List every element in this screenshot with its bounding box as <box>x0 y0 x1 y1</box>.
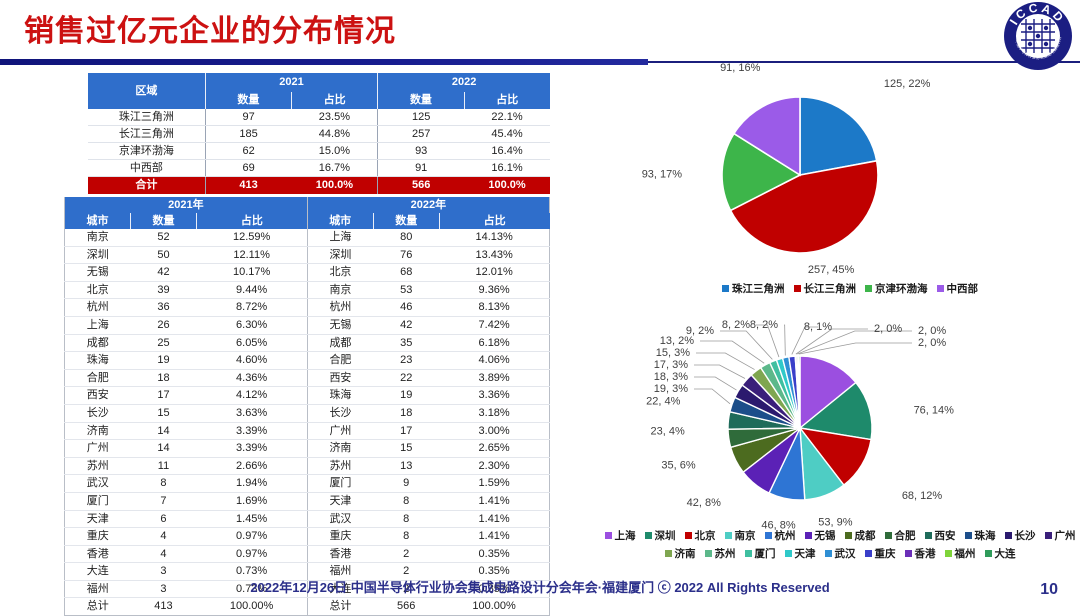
table-row: 成都256.05%成都356.18% <box>65 334 550 352</box>
city-2021-share: 3.39% <box>197 440 308 458</box>
city-2021-name: 天津 <box>65 510 131 528</box>
city-2021-name: 西安 <box>65 387 131 405</box>
legend-label: 厦门 <box>755 546 776 561</box>
city-2021-share: 12.11% <box>197 246 308 264</box>
legend-label: 西安 <box>935 528 956 543</box>
pie-data-label: 2, 0% <box>918 325 946 337</box>
city-2021-share: 12.59% <box>197 229 308 246</box>
table-row: 天津61.45%武汉81.41% <box>65 510 550 528</box>
city-2022-share: 3.00% <box>439 422 549 440</box>
slide-root: 销售过亿元企业的分布情况 <box>0 0 1080 607</box>
region-2022-share: 45.4% <box>464 126 550 143</box>
legend-swatch-icon <box>725 532 732 539</box>
region-2022-share: 22.1% <box>464 109 550 126</box>
table-row: 苏州112.66%苏州132.30% <box>65 457 550 475</box>
city-2022-share: 3.36% <box>439 387 549 405</box>
total-label: 合计 <box>88 177 205 195</box>
table-row: 珠江三角洲9723.5%12522.1% <box>88 109 550 126</box>
region-2022-count: 257 <box>378 126 464 143</box>
legend-label: 深圳 <box>655 528 676 543</box>
city-2021-count-header: 数量 <box>130 213 196 229</box>
legend-label: 广州 <box>1055 528 1076 543</box>
legend-item: 成都 <box>845 528 876 543</box>
pie-data-label: 15, 3% <box>656 347 690 359</box>
city-2021-name: 上海 <box>65 316 131 334</box>
pie-data-label: 2, 0% <box>918 337 946 349</box>
city-2022-count: 35 <box>373 334 439 352</box>
city-2021-name: 北京 <box>65 281 131 299</box>
legend-swatch-icon <box>685 532 692 539</box>
legend-swatch-icon <box>1045 532 1052 539</box>
city-2021-share: 0.97% <box>197 545 308 563</box>
city-2021-share: 4.12% <box>197 387 308 405</box>
city-2022-name: 成都 <box>307 334 373 352</box>
city-2021-name: 杭州 <box>65 299 131 317</box>
legend-label: 合肥 <box>895 528 916 543</box>
city-2021-share: 1.94% <box>197 475 308 493</box>
city-2021-count: 15 <box>130 404 196 422</box>
city-2022-count: 76 <box>373 246 439 264</box>
region-2021-share: 23.5% <box>291 109 377 126</box>
city-2021-name: 重庆 <box>65 528 131 546</box>
pie-data-label: 17, 3% <box>654 359 688 371</box>
city-2021-share: 1.69% <box>197 492 308 510</box>
city-2022-share: 13.43% <box>439 246 549 264</box>
legend-item: 深圳 <box>645 528 676 543</box>
city-table-head-row-1: 2021年 2022年 <box>65 197 550 213</box>
table-row: 长沙153.63%长沙183.18% <box>65 404 550 422</box>
legend-label: 上海 <box>615 528 636 543</box>
region-2021-count: 185 <box>205 126 291 143</box>
city-table-head-row-2: 城市 数量 占比 城市 数量 占比 <box>65 213 550 229</box>
city-2021-name: 深圳 <box>65 246 131 264</box>
legend-swatch-icon <box>825 550 832 557</box>
legend-label: 福州 <box>955 546 976 561</box>
city-table-head: 2021年 2022年 城市 数量 占比 城市 数量 占比 <box>65 197 550 229</box>
region-pie-slices <box>722 97 878 253</box>
legend-item: 西安 <box>925 528 956 543</box>
leader-line <box>694 377 736 390</box>
city-2022-share: 7.42% <box>439 316 549 334</box>
leader-line <box>700 341 764 363</box>
city-2022-count: 8 <box>373 528 439 546</box>
city-2021-count: 50 <box>130 246 196 264</box>
table-row: 京津环渤海6215.0%9316.4% <box>88 143 550 160</box>
city-2022-share: 8.13% <box>439 299 549 317</box>
city-2021-name: 成都 <box>65 334 131 352</box>
city-2022-name: 南京 <box>307 281 373 299</box>
city-2021-count: 36 <box>130 299 196 317</box>
legend-swatch-icon <box>985 550 992 557</box>
region-name: 珠江三角洲 <box>88 109 205 126</box>
city-2022-count: 2 <box>373 545 439 563</box>
region-table-head: 区域 2021 2022 数量 占比 数量 占比 <box>88 73 550 109</box>
city-2021-share: 8.72% <box>197 299 308 317</box>
city-distribution-table: 2021年 2022年 城市 数量 占比 城市 数量 占比 南京5212.59%… <box>64 197 550 616</box>
leader-line <box>696 353 755 370</box>
region-2022-share: 16.1% <box>464 160 550 177</box>
legend-label: 杭州 <box>775 528 796 543</box>
leader-line <box>799 343 912 354</box>
table-row: 香港40.97%香港20.35% <box>65 545 550 563</box>
legend-item: 无锡 <box>805 528 836 543</box>
city-2022-count: 22 <box>373 369 439 387</box>
pie-data-label: 91, 16% <box>720 62 761 74</box>
city-2022-share-header: 占比 <box>439 213 549 229</box>
total-2022-count: 566 <box>378 177 464 195</box>
legend-item: 重庆 <box>865 546 896 561</box>
city-2021-name: 香港 <box>65 545 131 563</box>
legend-item: 杭州 <box>765 528 796 543</box>
city-pie-legend: 上海深圳北京南京杭州无锡成都合肥西安珠海长沙广州济南苏州厦门天津武汉重庆香港福州… <box>600 528 1080 561</box>
legend-item: 济南 <box>665 546 696 561</box>
city-2022-share: 3.89% <box>439 369 549 387</box>
legend-item: 厦门 <box>745 546 776 561</box>
region-2021-share: 16.7% <box>291 160 377 177</box>
legend-label: 长江三角洲 <box>804 281 857 296</box>
city-2022-count: 42 <box>373 316 439 334</box>
legend-swatch-icon <box>1005 532 1012 539</box>
city-2022-count: 13 <box>373 457 439 475</box>
legend-item: 南京 <box>725 528 756 543</box>
legend-label: 香港 <box>915 546 936 561</box>
city-2022-name: 济南 <box>307 440 373 458</box>
legend-swatch-icon <box>794 285 801 292</box>
city-2021-name: 合肥 <box>65 369 131 387</box>
city-2022-share: 6.18% <box>439 334 549 352</box>
city-2021-count: 7 <box>130 492 196 510</box>
city-2021-count: 42 <box>130 264 196 282</box>
legend-item: 福州 <box>945 546 976 561</box>
city-2022-share: 0.35% <box>439 545 549 563</box>
city-2022-name: 上海 <box>307 229 373 246</box>
pie-data-label: 42, 8% <box>687 497 721 509</box>
city-2022-name: 杭州 <box>307 299 373 317</box>
pie-data-label: 22, 4% <box>646 395 680 407</box>
pie-data-label: 53, 9% <box>818 516 852 528</box>
pie-data-label: 9, 2% <box>686 325 714 337</box>
legend-swatch-icon <box>945 550 952 557</box>
city-2022-count: 68 <box>373 264 439 282</box>
region-2021-count-header: 数量 <box>205 92 291 109</box>
city-2021-share: 9.44% <box>197 281 308 299</box>
city-2022-name: 西安 <box>307 369 373 387</box>
legend-swatch-icon <box>965 532 972 539</box>
city-2021-name: 武汉 <box>65 475 131 493</box>
city-2022-count: 18 <box>373 404 439 422</box>
legend-swatch-icon <box>665 550 672 557</box>
city-2021-share: 4.60% <box>197 352 308 370</box>
city-2021-header: 2021年 <box>65 197 308 213</box>
table-row: 西安174.12%珠海193.36% <box>65 387 550 405</box>
city-2021-count: 8 <box>130 475 196 493</box>
iccad-logo: ICCAD 中国半导体行业协会集成电路设计分会 <box>1004 2 1072 70</box>
city-2022-name: 天津 <box>307 492 373 510</box>
region-name: 长江三角洲 <box>88 126 205 143</box>
region-2021-header: 2021 <box>205 73 378 92</box>
city-2021-name: 广州 <box>65 440 131 458</box>
city-2021-name: 济南 <box>65 422 131 440</box>
legend-item: 中西部 <box>937 281 979 296</box>
region-2022-share-header: 占比 <box>464 92 550 109</box>
logo-grid-icon: ICCAD 中国半导体行业协会集成电路设计分会 <box>1004 2 1072 70</box>
city-2022-name: 无锡 <box>307 316 373 334</box>
city-2021-share: 3.39% <box>197 422 308 440</box>
city-2022-share: 1.41% <box>439 510 549 528</box>
table-row: 北京399.44%南京539.36% <box>65 281 550 299</box>
legend-item: 天津 <box>785 546 816 561</box>
region-table-body: 珠江三角洲9723.5%12522.1%长江三角洲18544.8%25745.4… <box>88 109 550 194</box>
legend-item: 长沙 <box>1005 528 1036 543</box>
legend-label: 大连 <box>995 546 1016 561</box>
total-2021-count: 413 <box>205 177 291 195</box>
city-2022-name: 长沙 <box>307 404 373 422</box>
region-2021-count: 62 <box>205 143 291 160</box>
pie-data-label: 8, 1% <box>804 321 832 333</box>
city-2021-count: 18 <box>130 369 196 387</box>
city-2021-name: 苏州 <box>65 457 131 475</box>
legend-label: 珠江三角洲 <box>732 281 785 296</box>
legend-item: 合肥 <box>885 528 916 543</box>
city-2021-count: 14 <box>130 440 196 458</box>
region-distribution-table: 区域 2021 2022 数量 占比 数量 占比 珠江三角洲9723.5%125… <box>88 73 550 194</box>
legend-item: 广州 <box>1045 528 1076 543</box>
city-2021-share: 6.05% <box>197 334 308 352</box>
legend-item: 长江三角洲 <box>794 281 857 296</box>
title-divider-bar <box>0 59 648 65</box>
pie-data-label: 93, 17% <box>642 169 683 181</box>
region-2022-count: 91 <box>378 160 464 177</box>
city-2022-count: 23 <box>373 352 439 370</box>
city-2022-name: 广州 <box>307 422 373 440</box>
legend-swatch-icon <box>745 550 752 557</box>
legend-swatch-icon <box>865 550 872 557</box>
city-2021-count: 17 <box>130 387 196 405</box>
table-row: 厦门71.69%天津81.41% <box>65 492 550 510</box>
city-2022-count: 8 <box>373 492 439 510</box>
legend-item: 北京 <box>685 528 716 543</box>
city-2021-name: 长沙 <box>65 404 131 422</box>
legend-item: 珠海 <box>965 528 996 543</box>
table-row: 中西部6916.7%9116.1% <box>88 160 550 177</box>
legend-label: 武汉 <box>835 546 856 561</box>
legend-item: 苏州 <box>705 546 736 561</box>
city-2021-name: 珠海 <box>65 352 131 370</box>
legend-swatch-icon <box>905 550 912 557</box>
legend-label: 中西部 <box>947 281 979 296</box>
legend-swatch-icon <box>645 532 652 539</box>
table-row: 南京5212.59%上海8014.13% <box>65 229 550 246</box>
legend-label: 成都 <box>855 528 876 543</box>
city-2022-name: 苏州 <box>307 457 373 475</box>
city-2021-count: 6 <box>130 510 196 528</box>
city-2022-share: 2.30% <box>439 457 549 475</box>
page-number: 10 <box>1040 581 1058 599</box>
city-2021-name: 无锡 <box>65 264 131 282</box>
pie-data-label: 8, 2% <box>722 319 750 331</box>
city-2022-count: 53 <box>373 281 439 299</box>
city-2022-share: 1.41% <box>439 492 549 510</box>
table-row: 珠海194.60%合肥234.06% <box>65 352 550 370</box>
city-2021-share: 1.45% <box>197 510 308 528</box>
city-2021-count: 11 <box>130 457 196 475</box>
city-2021-count: 52 <box>130 229 196 246</box>
city-2022-name: 北京 <box>307 264 373 282</box>
pie-data-label: 35, 6% <box>661 459 695 471</box>
region-col-header: 区域 <box>88 73 205 109</box>
legend-swatch-icon <box>705 550 712 557</box>
legend-label: 京津环渤海 <box>875 281 928 296</box>
city-2021-share-header: 占比 <box>197 213 308 229</box>
city-2022-count-header: 数量 <box>373 213 439 229</box>
region-2021-count: 97 <box>205 109 291 126</box>
legend-swatch-icon <box>865 285 872 292</box>
region-pie-svg: 125, 22%257, 45%93, 17%91, 16% <box>620 62 1080 302</box>
region-table-head-row-1: 区域 2021 2022 <box>88 73 550 92</box>
leader-line <box>694 365 745 379</box>
city-2022-header: 2022年 <box>307 197 549 213</box>
region-2022-count: 93 <box>378 143 464 160</box>
legend-swatch-icon <box>845 532 852 539</box>
region-2022-count: 125 <box>378 109 464 126</box>
pie-data-label: 18, 3% <box>654 371 688 383</box>
legend-label: 济南 <box>675 546 696 561</box>
legend-swatch-icon <box>785 550 792 557</box>
page-title: 销售过亿元企业的分布情况 <box>24 6 396 50</box>
legend-swatch-icon <box>925 532 932 539</box>
region-name: 京津环渤海 <box>88 143 205 160</box>
leader-line <box>720 331 772 359</box>
city-2021-share: 4.36% <box>197 369 308 387</box>
city-2021-city-header: 城市 <box>65 213 131 229</box>
city-2021-share: 3.63% <box>197 404 308 422</box>
city-2022-count: 17 <box>373 422 439 440</box>
city-2022-count: 15 <box>373 440 439 458</box>
region-pie-legend: 珠江三角洲长江三角洲京津环渤海中西部 <box>620 281 1080 296</box>
city-2021-count: 14 <box>130 422 196 440</box>
leader-line <box>784 325 785 355</box>
city-2022-count: 9 <box>373 475 439 493</box>
pie-data-label: 19, 3% <box>654 383 688 395</box>
legend-swatch-icon <box>805 532 812 539</box>
region-2022-header: 2022 <box>378 73 550 92</box>
total-2022-share: 100.0% <box>464 177 550 195</box>
region-2021-count: 69 <box>205 160 291 177</box>
city-2021-share: 2.66% <box>197 457 308 475</box>
table-row: 无锡4210.17%北京6812.01% <box>65 264 550 282</box>
city-2022-share: 12.01% <box>439 264 549 282</box>
legend-item: 香港 <box>905 546 936 561</box>
legend-label: 苏州 <box>715 546 736 561</box>
legend-label: 南京 <box>735 528 756 543</box>
legend-swatch-icon <box>937 285 944 292</box>
table-row: 深圳5012.11%深圳7613.43% <box>65 246 550 264</box>
legend-item: 珠江三角洲 <box>722 281 785 296</box>
city-2021-count: 39 <box>130 281 196 299</box>
table-row: 广州143.39%济南152.65% <box>65 440 550 458</box>
pie-data-label: 76, 14% <box>914 404 955 416</box>
city-2021-share: 6.30% <box>197 316 308 334</box>
city-2022-share: 4.06% <box>439 352 549 370</box>
legend-label: 天津 <box>795 546 816 561</box>
legend-swatch-icon <box>885 532 892 539</box>
city-2021-count: 4 <box>130 528 196 546</box>
legend-swatch-icon <box>765 532 772 539</box>
pie-data-label: 2, 0% <box>874 323 902 335</box>
pie-data-label: 8, 2% <box>750 319 778 331</box>
table-row: 杭州368.72%杭州468.13% <box>65 299 550 317</box>
city-2022-share: 1.41% <box>439 528 549 546</box>
region-name: 中西部 <box>88 160 205 177</box>
legend-item: 上海 <box>605 528 636 543</box>
city-2022-city-header: 城市 <box>307 213 373 229</box>
pie-data-label: 125, 22% <box>884 78 931 90</box>
table-row: 武汉81.94%厦门91.59% <box>65 475 550 493</box>
city-2022-count: 19 <box>373 387 439 405</box>
city-2022-count: 46 <box>373 299 439 317</box>
legend-swatch-icon <box>722 285 729 292</box>
city-2022-name: 珠海 <box>307 387 373 405</box>
city-2021-name: 厦门 <box>65 492 131 510</box>
city-2021-count: 26 <box>130 316 196 334</box>
pie-data-label: 68, 12% <box>902 490 943 502</box>
region-2021-share: 44.8% <box>291 126 377 143</box>
city-2021-count: 19 <box>130 352 196 370</box>
region-2021-share: 15.0% <box>291 143 377 160</box>
city-2022-share: 3.18% <box>439 404 549 422</box>
city-2022-name: 香港 <box>307 545 373 563</box>
city-2022-name: 武汉 <box>307 510 373 528</box>
table-row-total: 合计413100.0%566100.0% <box>88 177 550 195</box>
legend-label: 重庆 <box>875 546 896 561</box>
table-row: 济南143.39%广州173.00% <box>65 422 550 440</box>
table-row: 长江三角洲18544.8%25745.4% <box>88 126 550 143</box>
pie-data-label: 257, 45% <box>808 264 855 276</box>
region-2022-count-header: 数量 <box>378 92 464 109</box>
city-2022-name: 重庆 <box>307 528 373 546</box>
legend-item: 大连 <box>985 546 1016 561</box>
footer-text: 2022年12月26日 中国半导体行业协会集成电路设计分会年会·福建厦门 ⓒ 2… <box>0 577 1080 596</box>
city-2022-share: 14.13% <box>439 229 549 246</box>
city-2022-name: 合肥 <box>307 352 373 370</box>
city-2022-count: 8 <box>373 510 439 528</box>
legend-label: 北京 <box>695 528 716 543</box>
city-2021-count: 25 <box>130 334 196 352</box>
city-2022-count: 80 <box>373 229 439 246</box>
city-2021-count: 4 <box>130 545 196 563</box>
pie-data-label: 23, 4% <box>650 425 684 437</box>
legend-item: 武汉 <box>825 546 856 561</box>
total-2021-share: 100.0% <box>291 177 377 195</box>
leader-line <box>694 389 730 404</box>
city-pie-slices <box>728 356 872 500</box>
city-2022-share: 9.36% <box>439 281 549 299</box>
legend-label: 无锡 <box>815 528 836 543</box>
legend-label: 长沙 <box>1015 528 1036 543</box>
city-2022-name: 厦门 <box>307 475 373 493</box>
legend-item: 京津环渤海 <box>865 281 928 296</box>
city-2022-name: 深圳 <box>307 246 373 264</box>
table-row: 合肥184.36%西安223.89% <box>65 369 550 387</box>
city-2021-share: 0.97% <box>197 528 308 546</box>
legend-swatch-icon <box>605 532 612 539</box>
city-table-body: 南京5212.59%上海8014.13%深圳5012.11%深圳7613.43%… <box>65 229 550 616</box>
legend-label: 珠海 <box>975 528 996 543</box>
region-pie-chart: 125, 22%257, 45%93, 17%91, 16% <box>620 62 1080 302</box>
city-2022-share: 1.59% <box>439 475 549 493</box>
table-row: 上海266.30%无锡427.42% <box>65 316 550 334</box>
city-2021-share: 10.17% <box>197 264 308 282</box>
